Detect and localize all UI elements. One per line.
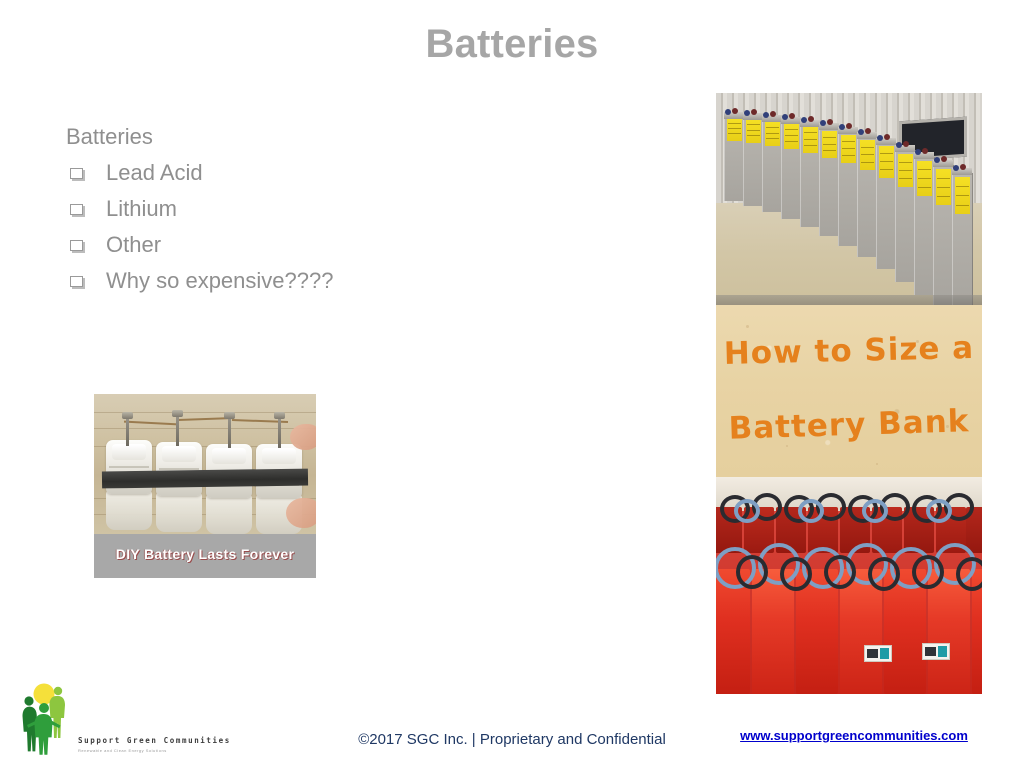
battery-label — [922, 643, 950, 660]
logo-tagline: Renewable and Clean Energy Solutions — [78, 748, 167, 753]
company-logo: Support Green Communities Renewable and … — [16, 679, 206, 759]
list-item-label: Lithium — [106, 198, 177, 220]
content-list: Batteries Lead Acid Lithium Other Why so… — [66, 126, 466, 306]
battery-bank-image: How to Size a Battery Bank — [716, 93, 982, 694]
hollow-square-bullet-icon — [70, 240, 85, 253]
hollow-square-bullet-icon — [70, 168, 85, 181]
hollow-square-bullet-icon — [70, 204, 85, 217]
list-item: Lithium — [66, 198, 466, 220]
list-item: Why so expensive???? — [66, 270, 466, 292]
pallet-base — [716, 295, 982, 305]
list-item-label: Other — [106, 234, 161, 256]
list-item: Lead Acid — [66, 162, 466, 184]
sign-line-2: Battery Bank — [716, 403, 982, 447]
list-item-label: Why so expensive???? — [106, 270, 333, 292]
black-strip — [102, 469, 308, 489]
logo-company-name: Support Green Communities — [78, 736, 231, 745]
page-title: Batteries — [0, 22, 1024, 66]
yellow-battery-bank-photo — [716, 93, 982, 305]
battery-label — [864, 645, 892, 662]
logo-people-sun-icon — [16, 679, 72, 755]
list-item-label: Lead Acid — [106, 162, 203, 184]
diy-battery-image: DIY Battery Lasts Forever — [94, 394, 316, 578]
sign-line-1: How to Size a — [716, 330, 982, 372]
hollow-square-bullet-icon — [70, 276, 85, 289]
footer-website-link[interactable]: www.supportgreencommunities.com — [716, 728, 992, 743]
list-lead-label: Batteries — [66, 126, 466, 148]
diy-battery-photo — [94, 394, 316, 534]
list-item: Other — [66, 234, 466, 256]
diy-caption-label: DIY Battery Lasts Forever — [94, 546, 316, 562]
battery-bank-sign: How to Size a Battery Bank — [716, 305, 982, 477]
red-battery-bank-photo — [716, 477, 982, 694]
